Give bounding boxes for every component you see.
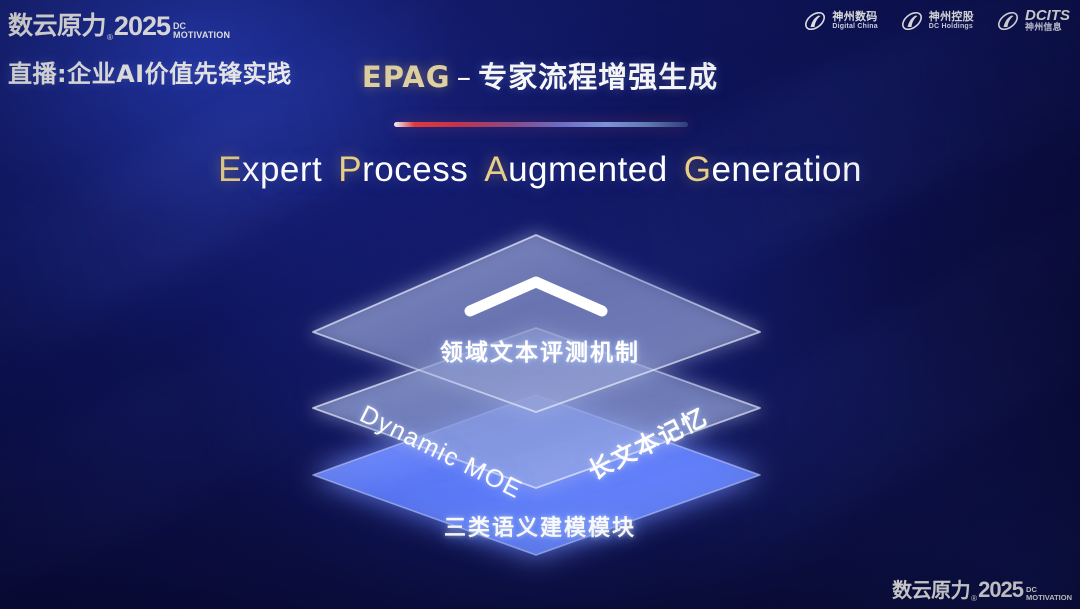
corporate-logo-name-cn: DCITS — [1025, 8, 1070, 24]
page-title-acronym: EPAG — [362, 60, 451, 94]
watermark-logo: 数云原力 ® 2025 DC MOTIVATION — [892, 574, 1072, 603]
corporate-logo-text: DCITS 神州信息 — [1025, 8, 1070, 33]
corporate-logo-name-cn: 神州数码 — [832, 11, 877, 23]
layer-label-top: 领域文本评测机制 — [0, 333, 1080, 367]
chevron-up-icon — [462, 274, 610, 318]
swoosh-logo-icon — [996, 9, 1020, 33]
brand-logo-tagline-line2: MOTIVATION — [173, 31, 230, 40]
layer-top — [313, 235, 760, 412]
corporate-logo-dcits: DCITS 神州信息 — [996, 8, 1070, 33]
subtitle-word-rest: rocess — [362, 150, 468, 189]
corporate-logo-name-en: DC Holdings — [929, 23, 974, 30]
watermark-logo-chinese: 数云原力 — [892, 574, 970, 603]
corporate-logo-text: 神州控股 DC Holdings — [929, 11, 974, 30]
brand-logo: 数云原力 ® 2025 DC MOTIVATION — [8, 6, 230, 42]
subtitle-word-capital: P — [338, 150, 362, 189]
subtitle-word: Generation — [684, 150, 862, 189]
corporate-logo-name-en: Digital China — [832, 23, 877, 30]
corporate-logo-group: 神州数码 Digital China 神州控股 DC Holdings DCIT… — [803, 8, 1070, 33]
brand-logo-chinese: 数云原力 — [8, 6, 106, 42]
subtitle-word-rest: eneration — [711, 150, 861, 189]
subtitle-word-capital: G — [684, 150, 712, 189]
page-title-separator: – — [457, 60, 473, 94]
watermark-logo-year: 2025 — [978, 577, 1023, 603]
slide-canvas: 数云原力 ® 2025 DC MOTIVATION 直播:企业AI价值先锋实践 … — [0, 0, 1080, 609]
subtitle-word: Process — [338, 150, 468, 189]
subtitle-word-capital: E — [218, 150, 242, 189]
brand-logo-year: 2025 — [114, 11, 170, 42]
subtitle-word-rest: ugmented — [508, 150, 668, 189]
background-streak — [0, 273, 422, 609]
page-title: EPAG–专家流程增强生成 — [0, 54, 1080, 96]
layer-label-middle-left: Dynamic MOE — [355, 400, 527, 505]
subtitle-word-capital: A — [484, 150, 508, 189]
page-title-chinese: 专家流程增强生成 — [478, 60, 718, 94]
brand-logo-registered-mark: ® — [107, 33, 113, 42]
brand-logo-tagline: DC MOTIVATION — [173, 22, 230, 42]
subtitle-english: ExpertProcessAugmentedGeneration — [0, 150, 1080, 190]
corporate-logo-dc-holdings: 神州控股 DC Holdings — [900, 9, 974, 33]
subtitle-word: Expert — [218, 150, 322, 189]
corporate-logo-digital-china: 神州数码 Digital China — [803, 9, 877, 33]
subtitle-word: Augmented — [484, 150, 668, 189]
watermark-logo-tagline: DC MOTIVATION — [1026, 586, 1072, 603]
corporate-logo-text: 神州数码 Digital China — [832, 11, 877, 30]
swoosh-logo-icon — [803, 9, 827, 33]
watermark-logo-registered-mark: ® — [971, 594, 977, 603]
title-divider — [394, 122, 688, 127]
subtitle-word-rest: xpert — [242, 150, 322, 189]
swoosh-logo-icon — [900, 9, 924, 33]
layer-label-bottom: 三类语义建模模块 — [0, 510, 1080, 542]
watermark-logo-tagline-line2: MOTIVATION — [1026, 594, 1072, 602]
corporate-logo-name-cn: 神州控股 — [929, 11, 974, 23]
corporate-logo-name-en: 神州信息 — [1025, 24, 1070, 33]
layer-label-middle-right: 长文本记忆 — [581, 397, 713, 486]
